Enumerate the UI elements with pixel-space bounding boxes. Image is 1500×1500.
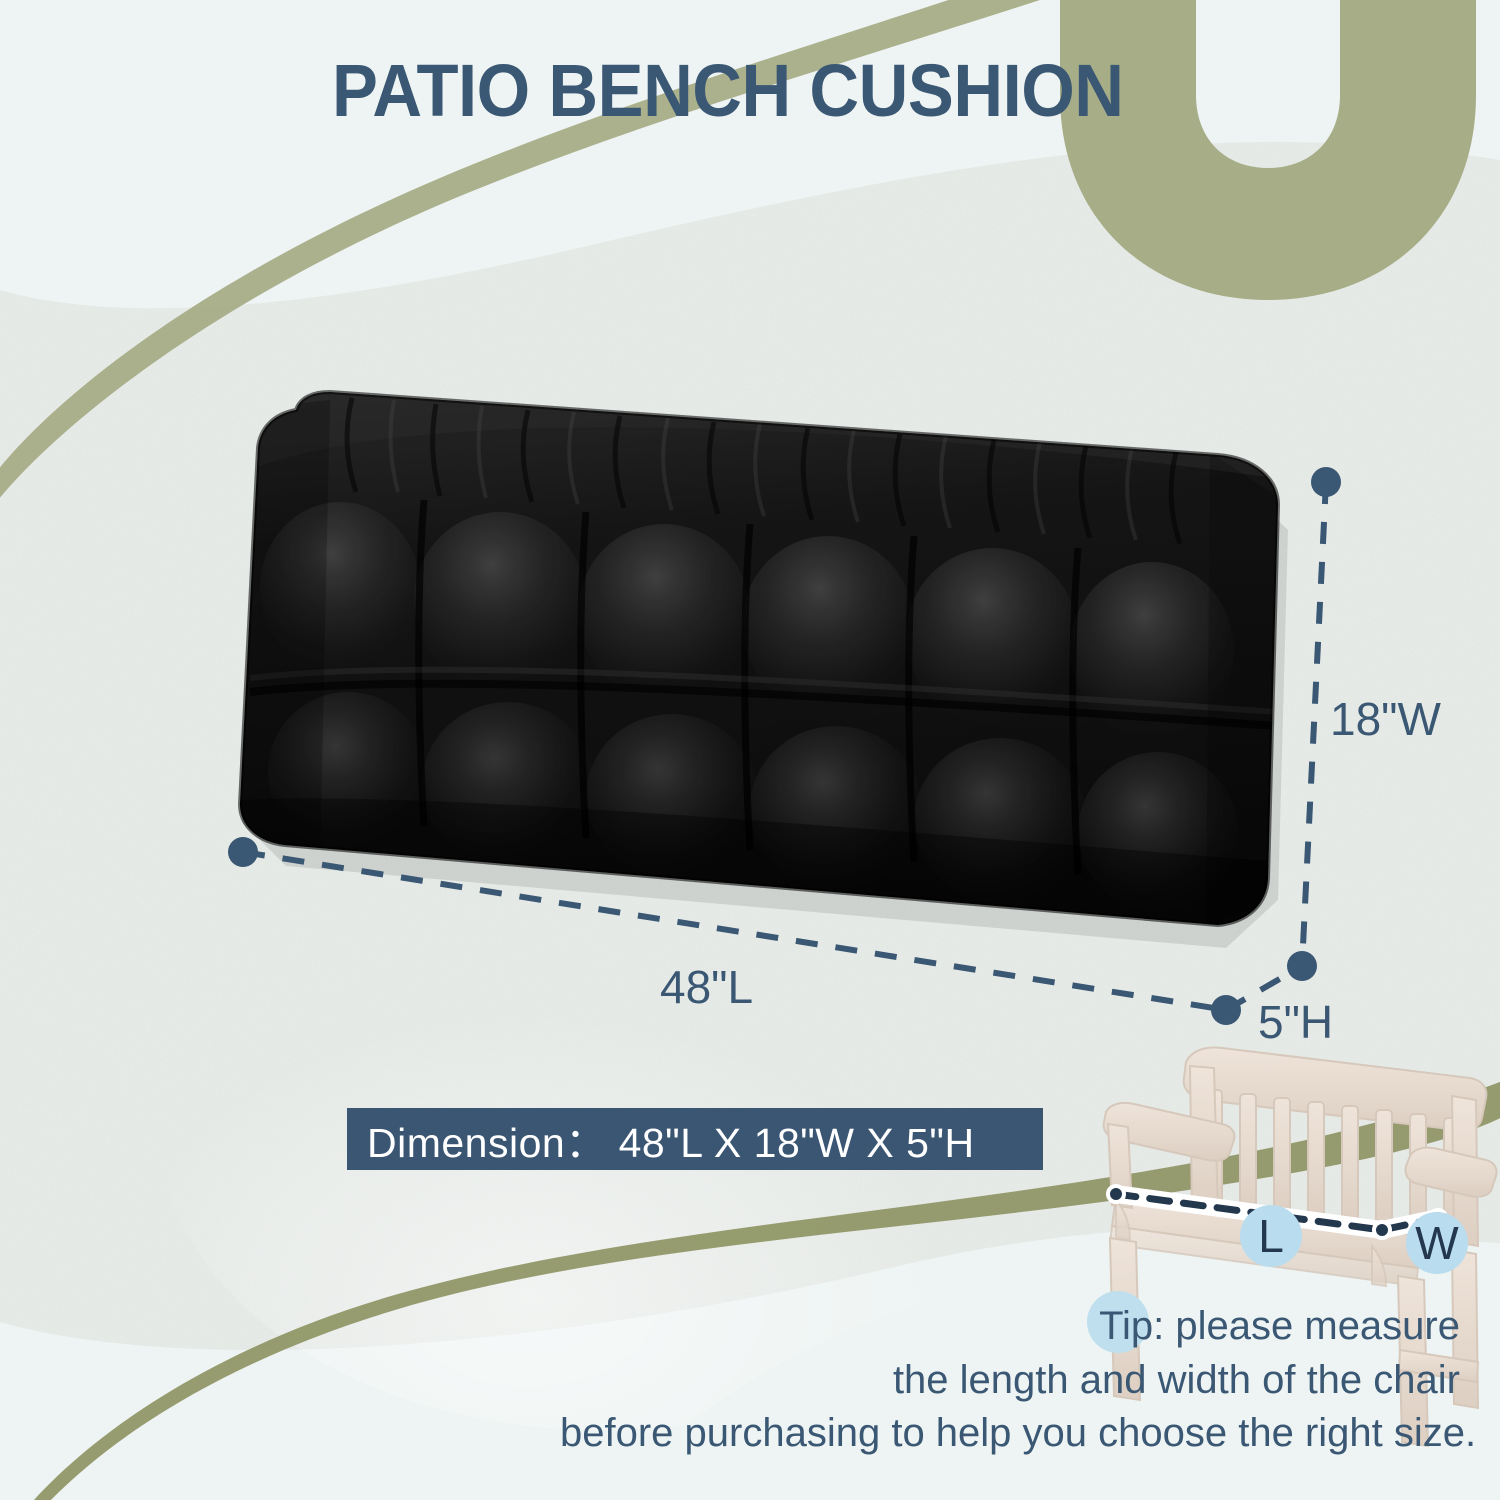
page-title: PATIO BENCH CUSHION (332, 48, 1124, 133)
tip-badge: Tip (1099, 1300, 1153, 1354)
height-dimension-label: 5"H (1258, 995, 1333, 1049)
tip-line-3: before purchasing to help you choose the… (560, 1407, 1460, 1461)
bench-length-badge: L (1240, 1205, 1302, 1267)
dimension-banner-text: Dimension： 48"L X 18"W X 5"H (347, 1109, 975, 1169)
length-dimension-label: 48"L (660, 960, 753, 1014)
tip-text-block: Tip: please measure the length and width… (560, 1300, 1460, 1461)
bench-top-rail (1184, 1048, 1487, 1131)
bench-width-badge: W (1406, 1212, 1468, 1274)
tip-line-1-rest: : please measure (1153, 1304, 1460, 1348)
infographic-canvas: PATIO BENCH CUSHION 18"W 48"L 5"H Dimens… (0, 0, 1500, 1500)
tip-line-1: Tip: please measure (560, 1300, 1460, 1354)
width-dimension-label: 18"W (1330, 692, 1441, 746)
dimension-banner: Dimension： 48"L X 18"W X 5"H (347, 1108, 1043, 1170)
bench-illustration (0, 0, 1500, 1500)
tip-line-2: the length and width of the chair (560, 1354, 1460, 1408)
